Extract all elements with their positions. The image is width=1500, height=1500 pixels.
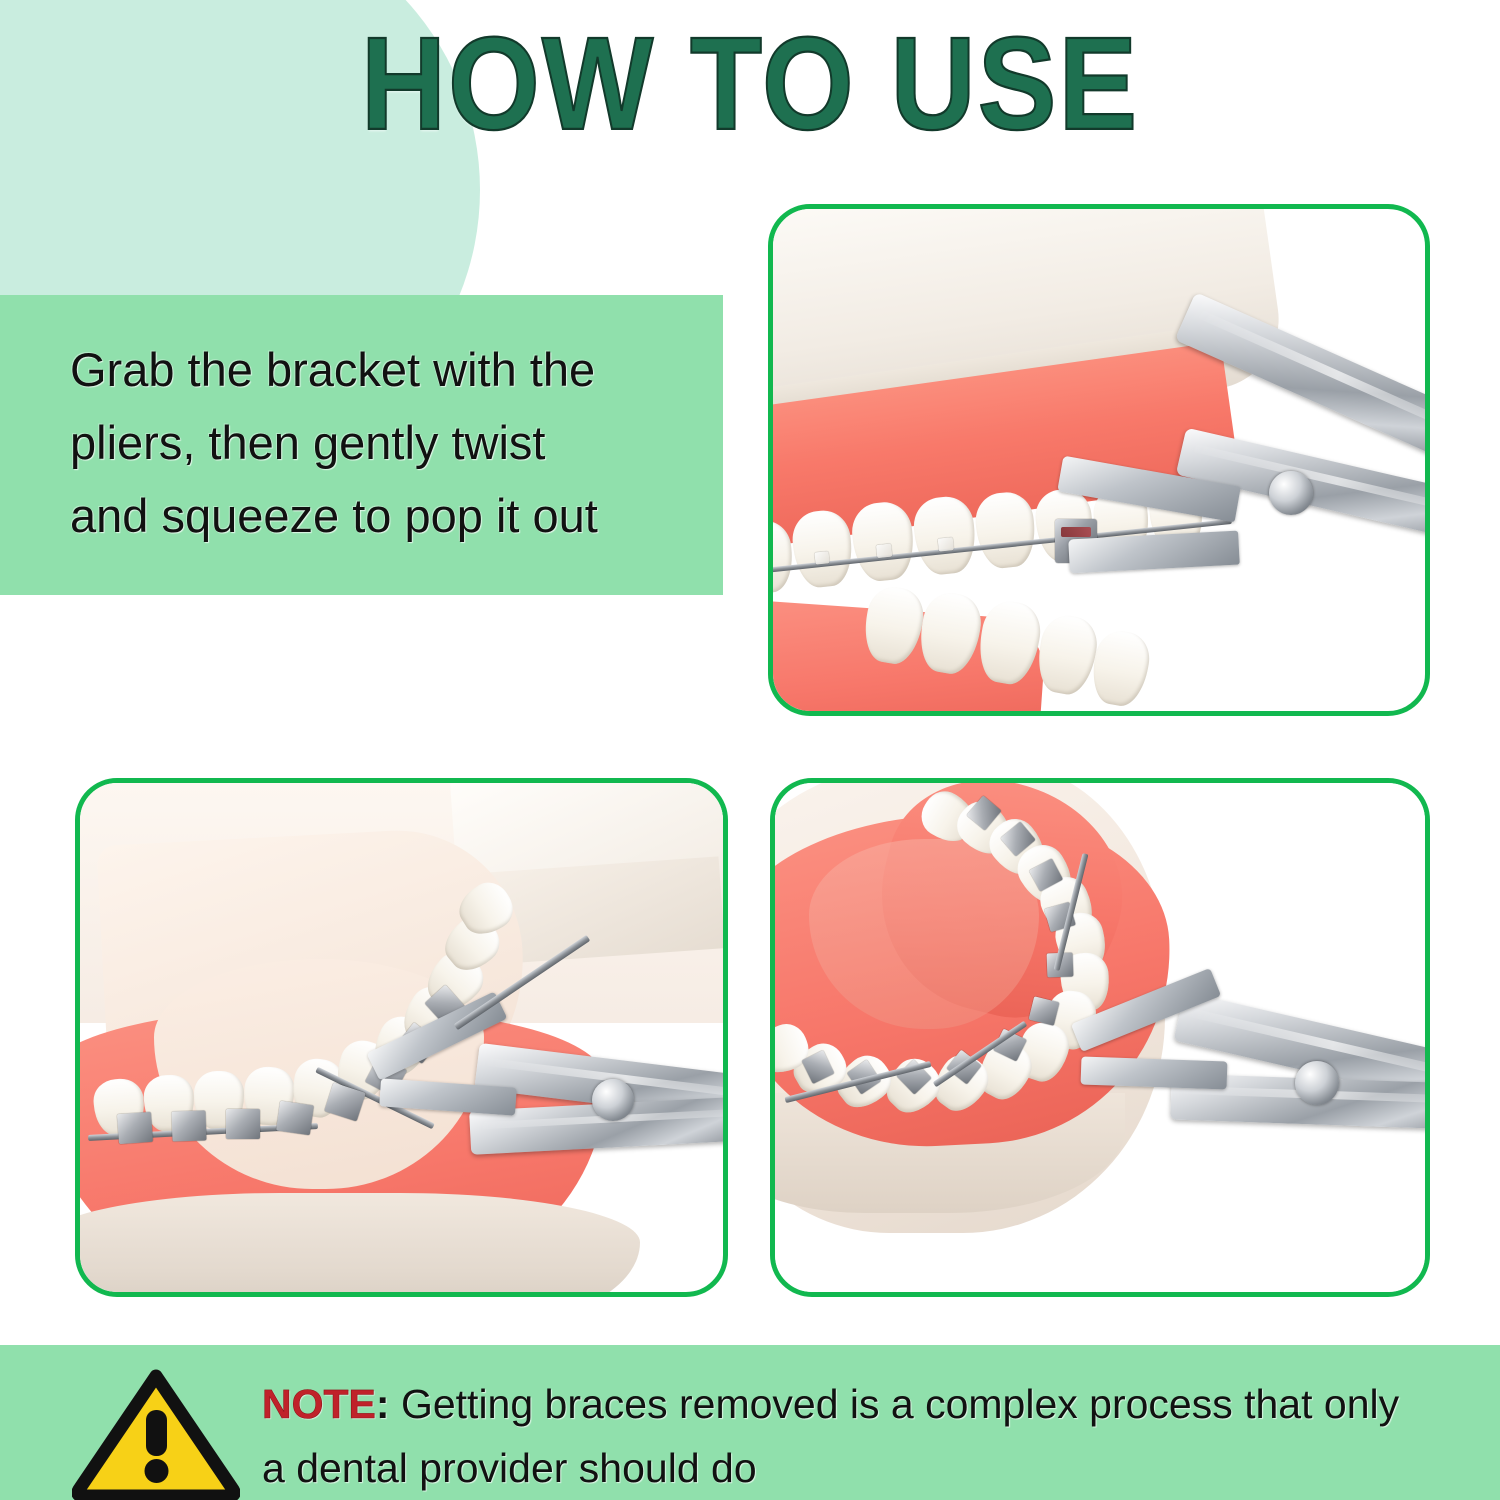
photo-panel-top-right [768, 204, 1430, 716]
pliers-pivot-screw [592, 1079, 634, 1121]
note-line-1-text: Getting braces removed is a complex proc… [401, 1381, 1399, 1427]
instruction-line-2: pliers, then gently twist [70, 406, 705, 479]
pliers-pivot-screw [1269, 471, 1313, 515]
note-label: NOTE [262, 1381, 376, 1427]
photo-panel-bottom-left [75, 778, 728, 1297]
dental-model-photo-upper-arch [775, 783, 1425, 1292]
note-line-2: a dental provider should do [262, 1436, 1472, 1500]
dental-model-photo-closed-bite [773, 209, 1425, 711]
target-bracket-wing [1061, 527, 1091, 537]
infographic-page: HOW TO USE Grab the bracket with the pli… [0, 0, 1500, 1500]
instruction-line-3: and squeeze to pop it out [70, 479, 705, 552]
note-line-1: NOTE: Getting braces removed is a comple… [262, 1372, 1472, 1436]
pliers-lower-jaw [1081, 1056, 1228, 1089]
note-colon: : [376, 1381, 390, 1427]
warning-triangle-icon [72, 1368, 240, 1500]
instruction-block: Grab the bracket with the pliers, then g… [0, 295, 723, 595]
note-text: NOTE: Getting braces removed is a comple… [262, 1372, 1472, 1500]
dental-model-photo-lower-arch [80, 783, 723, 1292]
instruction-line-1: Grab the bracket with the [70, 333, 705, 406]
page-title: HOW TO USE [0, 18, 1500, 150]
pliers-pivot-screw [1295, 1061, 1339, 1105]
photo-panel-bottom-right [770, 778, 1430, 1297]
